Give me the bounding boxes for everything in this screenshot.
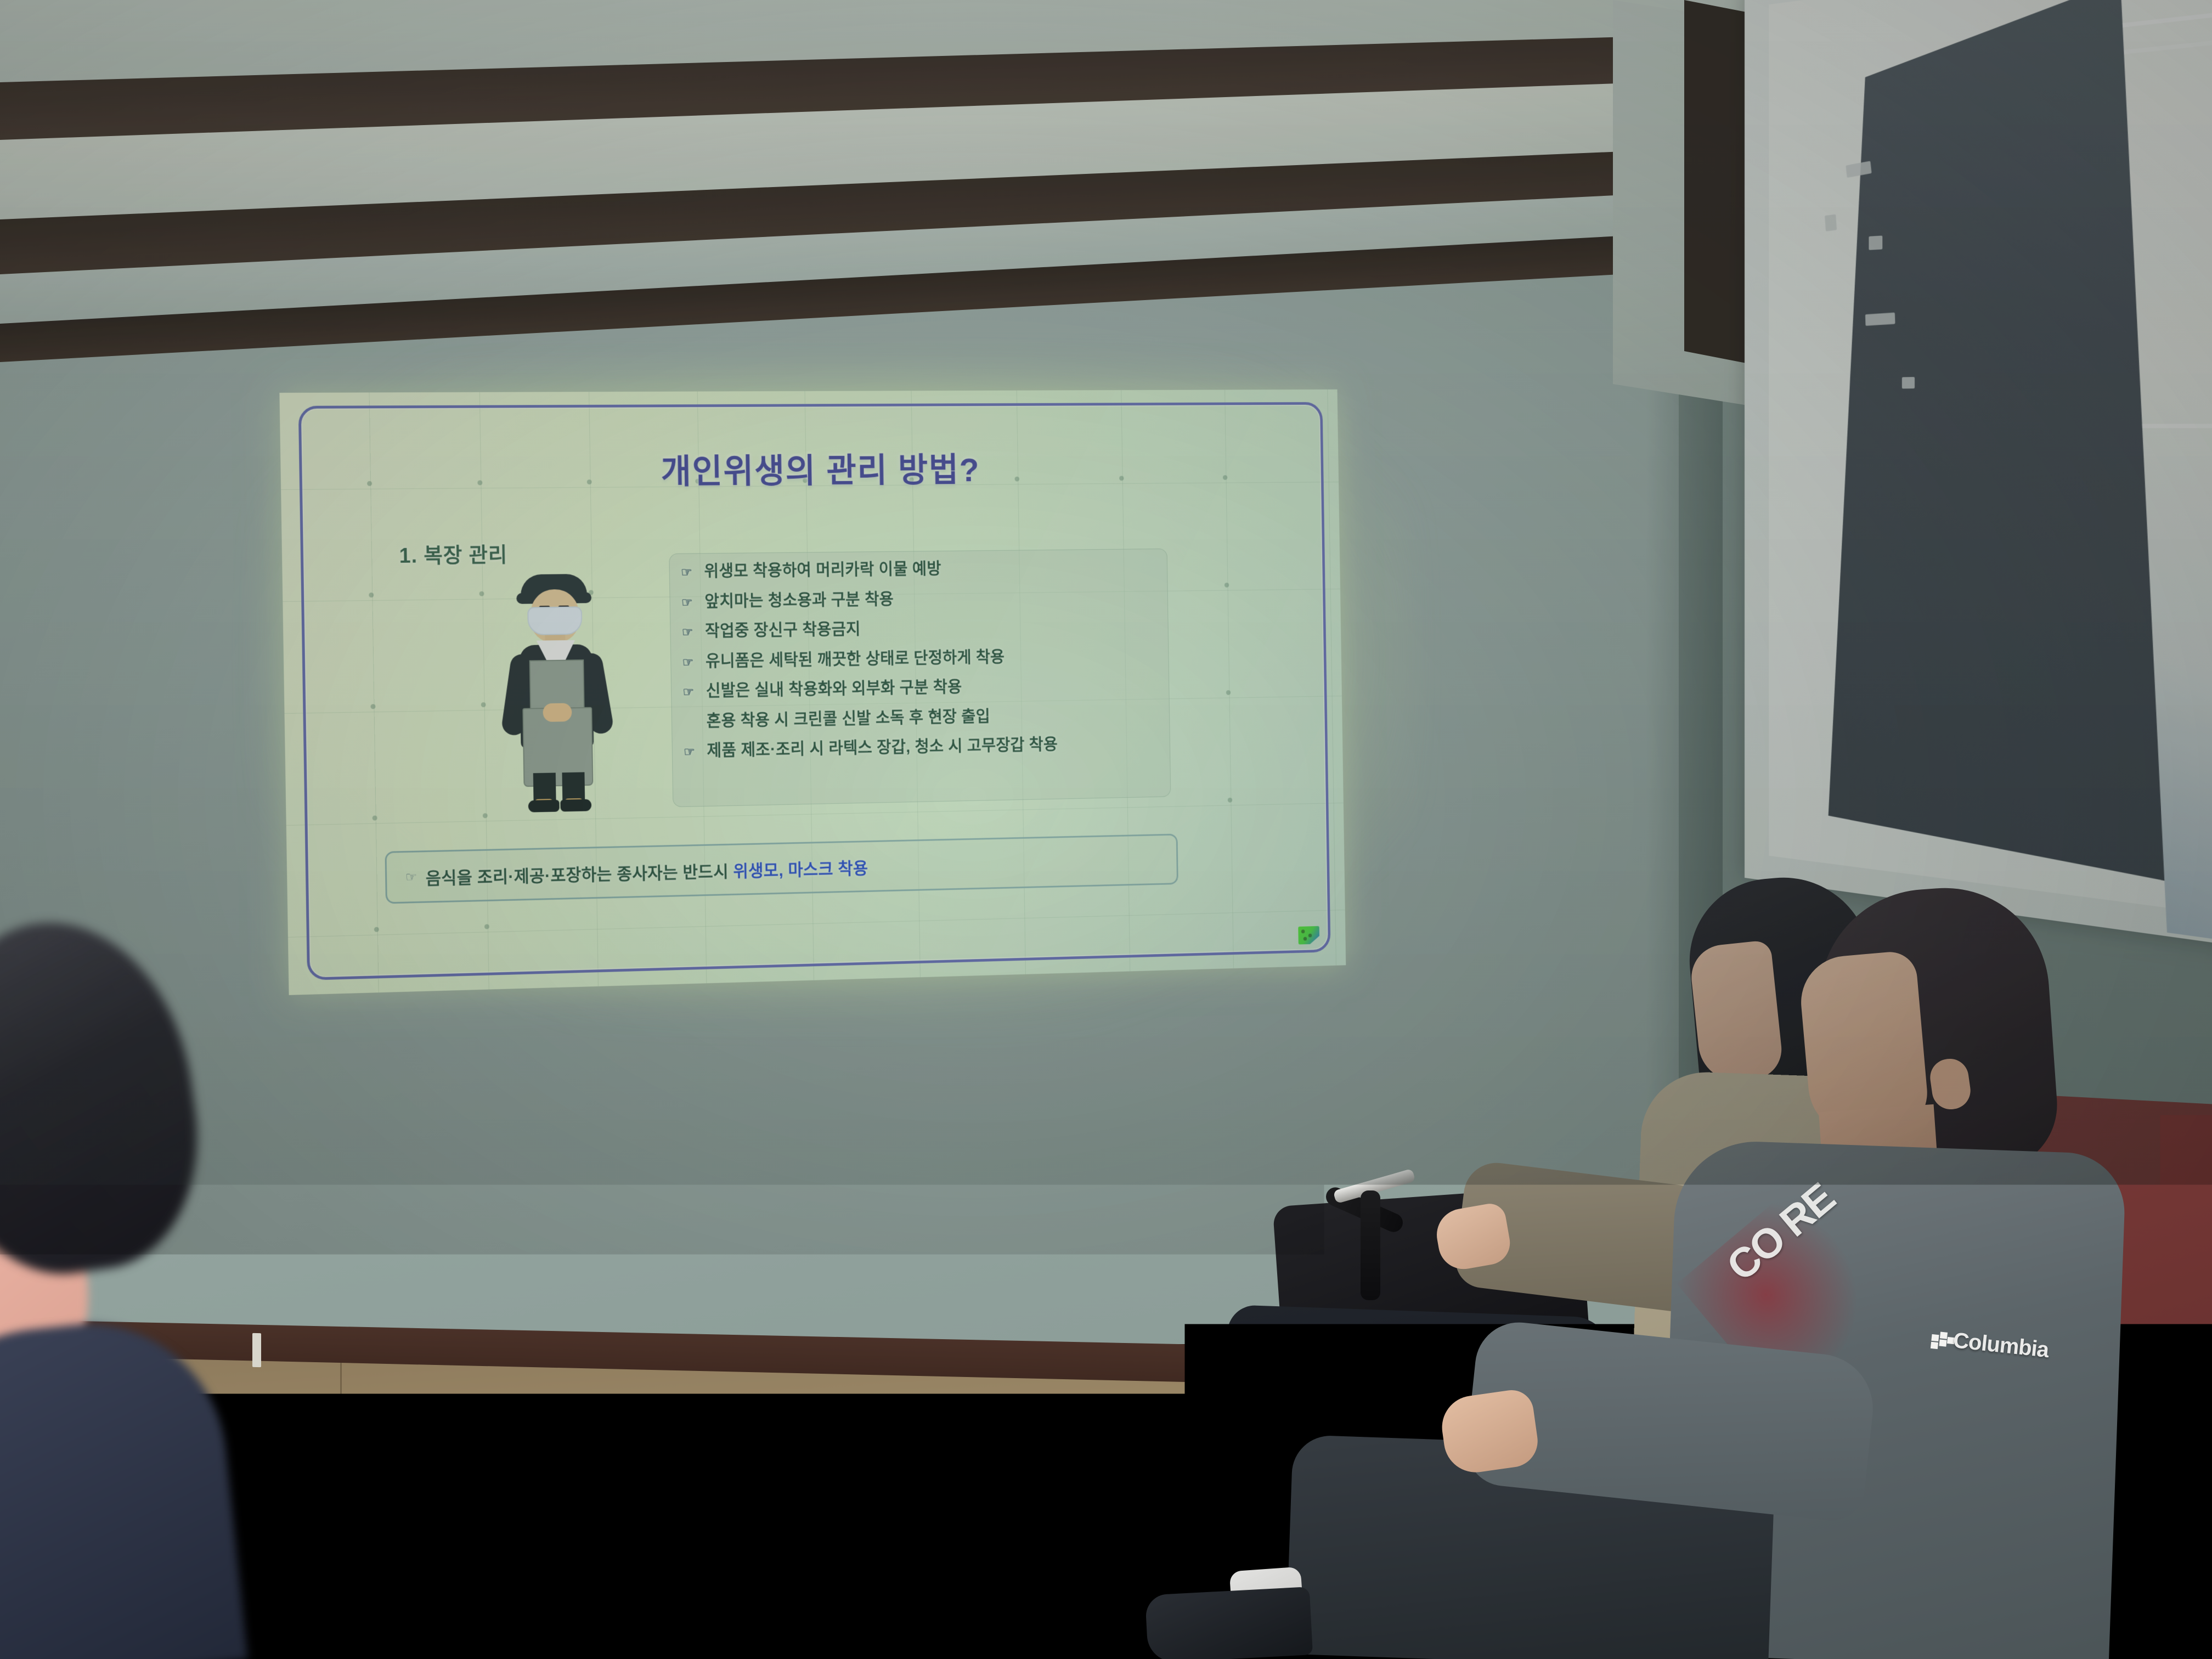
bullet-text: 위생모 착용하여 머리카락 이물 예방 bbox=[704, 560, 941, 579]
bullet-item: ☞ 작업중 장신구 착용금지 bbox=[682, 617, 1175, 640]
hand-pointer-icon: ☞ bbox=[682, 682, 698, 699]
worker-hands bbox=[543, 703, 572, 721]
hand-pointer-icon: ☞ bbox=[405, 869, 417, 885]
tape-strip bbox=[1825, 215, 1837, 232]
tape-strip bbox=[1902, 377, 1915, 388]
food-worker-illustration bbox=[496, 571, 616, 814]
slide-section-label: 1. 복장 관리 bbox=[399, 538, 507, 569]
person-front-shoe bbox=[1145, 1587, 1313, 1659]
bullet-text: 신발은 실내 착용화와 외부화 구분 착용 bbox=[706, 679, 962, 699]
tape-strip bbox=[1869, 235, 1882, 250]
bullet-text: 혼용 착용 시 크린콜 신발 소독 후 현장 출입 bbox=[706, 708, 990, 730]
bullet-text: 앞치마는 청소용과 구분 착용 bbox=[704, 590, 894, 610]
columbia-logo-icon bbox=[1930, 1331, 1955, 1355]
worker-shoe-left bbox=[528, 800, 560, 812]
slide-title: 개인위생의 관리 방법? bbox=[280, 441, 1339, 496]
bullet-item: ☞ 위생모 착용하여 머리카락 이물 예방 bbox=[681, 558, 1173, 580]
hand-pointer-icon: ☞ bbox=[682, 653, 698, 669]
window-glass bbox=[1769, 0, 2212, 917]
bullet-text: 제품 제조·조리 시 라텍스 장갑, 청소 시 고무장갑 착용 bbox=[707, 736, 1058, 759]
window-frame bbox=[1745, 0, 2212, 950]
bullet-item-continuation: ☞ 혼용 착용 시 크린콜 신발 소독 후 현장 출입 bbox=[683, 704, 1176, 730]
projected-slide: 개인위생의 관리 방법? 1. 복장 관리 bbox=[279, 390, 1346, 995]
bullet-item: ☞ 제품 제조·조리 시 라텍스 장갑, 청소 시 고무장갑 착용 bbox=[684, 734, 1176, 760]
bullet-list: ☞ 위생모 착용하여 머리카락 이물 예방 ☞ 앞치마는 청소용과 구분 착용 … bbox=[681, 558, 1177, 772]
hand-pointer-icon: ☞ bbox=[682, 623, 698, 639]
ceiling-right-trim bbox=[1684, 0, 1750, 364]
bullet-text: 유니폼은 세탁된 깨끗한 상태로 단정하게 착용 bbox=[706, 648, 1005, 670]
bullet-item: ☞ 유니폼은 세탁된 깨끗한 상태로 단정하게 착용 bbox=[682, 646, 1175, 670]
bullet-item: ☞ 앞치마는 청소용과 구분 착용 bbox=[681, 587, 1174, 610]
tape-strip bbox=[1865, 313, 1895, 326]
worker-shoe-right bbox=[560, 799, 591, 812]
bullet-text: 작업중 장신구 착용금지 bbox=[705, 620, 861, 640]
room-photo-scene: 개인위생의 관리 방법? 1. 복장 관리 bbox=[0, 0, 2212, 1659]
wall-outlet bbox=[252, 1333, 261, 1367]
face-mask-icon bbox=[527, 606, 582, 635]
hand-pointer-icon: ☞ bbox=[684, 742, 699, 759]
bullet-item: ☞ 신발은 실내 착용화와 외부화 구분 착용 bbox=[682, 675, 1175, 700]
hand-pointer-icon: ☞ bbox=[681, 563, 697, 579]
footer-highlight: 위생모, 마스크 착용 bbox=[733, 859, 868, 881]
hand-pointer-icon: ☞ bbox=[681, 593, 697, 610]
footer-lead: 음식을 조리·제공·포장하는 종사자는 반드시 bbox=[426, 862, 733, 888]
footer-text: 음식을 조리·제공·포장하는 종사자는 반드시 위생모, 마스크 착용 bbox=[425, 854, 868, 889]
